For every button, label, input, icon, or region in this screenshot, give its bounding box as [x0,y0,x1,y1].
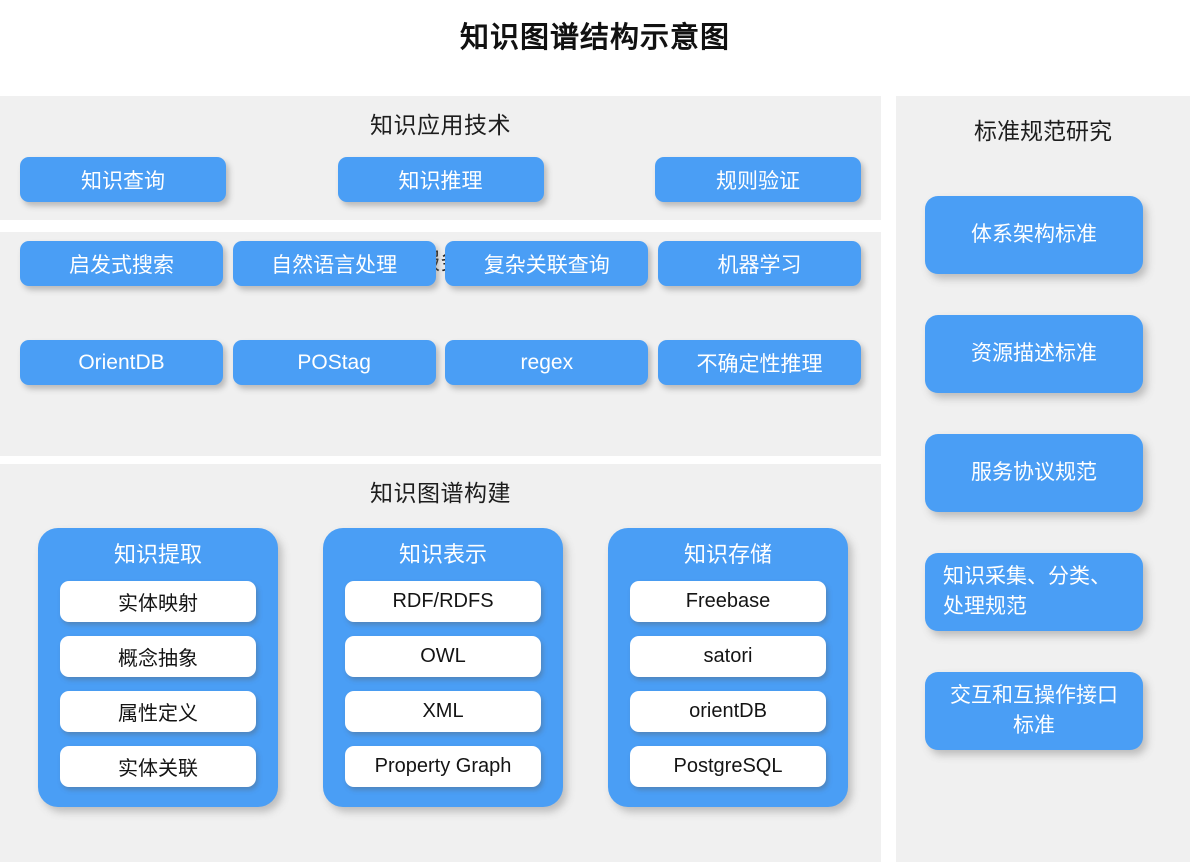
build-column-knowledge-extraction: 知识提取 实体映射 概念抽象 属性定义 实体关联 [38,528,278,807]
standard-item-service-protocol[interactable]: 服务协议规范 [925,434,1143,512]
standard-item-architecture[interactable]: 体系架构标准 [925,196,1143,274]
standards-list: 体系架构标准 资源描述标准 服务协议规范 知识采集、分类、处理规范 交互和互操作… [925,196,1161,791]
chip-regex[interactable]: regex [445,340,648,385]
build-item-attribute-definition[interactable]: 属性定义 [60,691,256,732]
build-item-rdf-rdfs[interactable]: RDF/RDFS [345,581,541,622]
service-chip-row-2: OrientDB POStag regex 不确定性推理 [20,340,861,385]
chip-heuristic-search[interactable]: 启发式搜索 [20,241,223,286]
build-column-knowledge-representation: 知识表示 RDF/RDFS OWL XML Property Graph [323,528,563,807]
chip-knowledge-query[interactable]: 知识查询 [20,157,226,202]
build-column-knowledge-storage: 知识存储 Freebase satori orientDB PostgreSQL [608,528,848,807]
build-item-xml[interactable]: XML [345,691,541,732]
build-item-satori[interactable]: satori [630,636,826,677]
chip-rule-validation[interactable]: 规则验证 [655,157,861,202]
chip-complex-relation-query[interactable]: 复杂关联查询 [445,241,648,286]
build-item-postgresql[interactable]: PostgreSQL [630,746,826,787]
build-item-owl[interactable]: OWL [345,636,541,677]
standard-item-interaction-interoperability-interface[interactable]: 交互和互操作接口标准 [925,672,1143,750]
build-column-title-knowledge-representation: 知识表示 [345,538,541,572]
panel-title-knowledge-application: 知识应用技术 [0,96,881,140]
chip-knowledge-reasoning[interactable]: 知识推理 [338,157,544,202]
standard-item-resource-description[interactable]: 资源描述标准 [925,315,1143,393]
panel-knowledge-application: 知识应用技术 知识查询 知识推理 规则验证 [0,96,881,220]
chip-postag[interactable]: POStag [233,340,436,385]
service-chip-row-1: 启发式搜索 自然语言处理 复杂关联查询 机器学习 [20,241,861,286]
left-column: 知识应用技术 知识查询 知识推理 规则验证 知识服务技术 启发式搜索 自然语言处… [0,96,881,862]
chip-nlp[interactable]: 自然语言处理 [233,241,436,286]
build-item-freebase[interactable]: Freebase [630,581,826,622]
build-columns: 知识提取 实体映射 概念抽象 属性定义 实体关联 知识表示 RDF/RDFS O… [38,528,848,807]
panel-standards-research: 标准规范研究 体系架构标准 资源描述标准 服务协议规范 知识采集、分类、处理规范… [896,96,1190,862]
build-item-entity-mapping[interactable]: 实体映射 [60,581,256,622]
apply-chip-row: 知识查询 知识推理 规则验证 [20,157,861,202]
chip-orientdb[interactable]: OrientDB [20,340,223,385]
build-item-entity-linking[interactable]: 实体关联 [60,746,256,787]
panel-title-knowledge-graph-construction: 知识图谱构建 [0,464,881,508]
build-column-title-knowledge-storage: 知识存储 [630,538,826,572]
build-item-concept-abstraction[interactable]: 概念抽象 [60,636,256,677]
build-item-orientdb[interactable]: orientDB [630,691,826,732]
panel-title-standards-research: 标准规范研究 [896,96,1190,147]
chip-machine-learning[interactable]: 机器学习 [658,241,861,286]
chip-uncertainty-reasoning[interactable]: 不确定性推理 [658,340,861,385]
standard-item-collection-classification-processing[interactable]: 知识采集、分类、处理规范 [925,553,1143,631]
diagram-board: 知识应用技术 知识查询 知识推理 规则验证 知识服务技术 启发式搜索 自然语言处… [0,96,1190,862]
build-item-property-graph[interactable]: Property Graph [345,746,541,787]
page-title: 知识图谱结构示意图 [0,14,1190,56]
build-column-title-knowledge-extraction: 知识提取 [60,538,256,572]
